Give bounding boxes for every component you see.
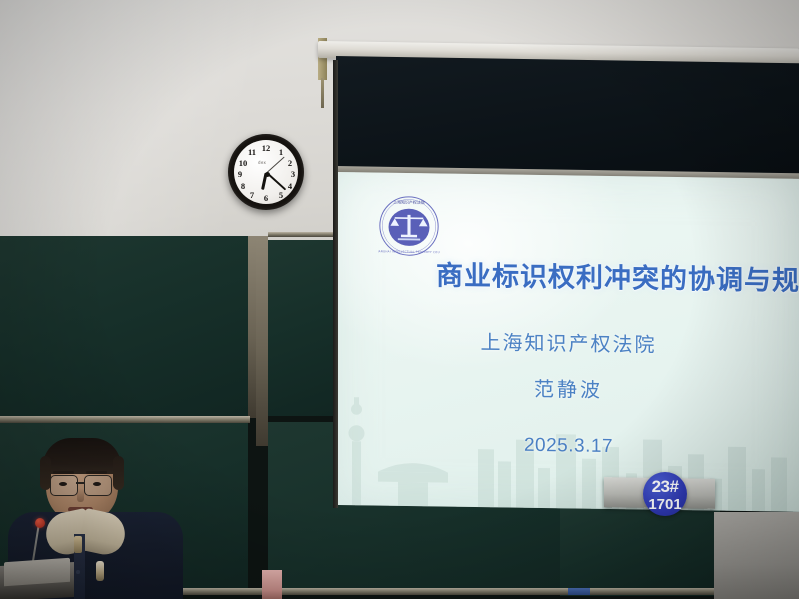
clock-number-1: 1: [275, 147, 287, 157]
chalk-rail-left: [0, 416, 250, 423]
board-divider-left: [248, 236, 256, 418]
screen-black-border: [336, 56, 799, 185]
shanghai-ip-court-emblem: 上海知识产权法院 SHANGHAI INTELLECTUAL PROPERTY …: [378, 195, 440, 258]
clock-number-12: 12: [260, 143, 272, 153]
lecture-hall-photo: dex 12 1 2 3 4 5 6 7 8 9 10 11: [0, 0, 799, 599]
clock-number-9: 9: [234, 169, 246, 179]
clock-number-10: 10: [237, 158, 249, 168]
presenter-brow-left: [53, 471, 74, 474]
presenter-brow-right: [86, 471, 107, 474]
presenter-hair-right: [113, 456, 124, 490]
clock-number-5: 5: [275, 190, 287, 200]
room-number-primary: 23#: [643, 477, 687, 497]
clock-face: dex 12 1 2 3 4 5 6 7 8 9 10 11: [234, 140, 298, 204]
projected-slide: 上海知识产权法院 SHANGHAI INTELLECTUAL PROPERTY …: [338, 172, 799, 512]
clock-number-3: 3: [287, 169, 299, 179]
clock-brand-label: dex: [258, 160, 266, 165]
microphone-head: [35, 518, 45, 528]
wall-clock: dex 12 1 2 3 4 5 6 7 8 9 10 11: [228, 134, 304, 210]
clock-number-2: 2: [284, 158, 296, 168]
clock-number-11: 11: [246, 147, 258, 157]
pink-eraser-box: [262, 570, 282, 599]
clock-second-hand: [266, 157, 285, 174]
presenter-hair: [43, 438, 121, 474]
eyeglasses-bridge: [76, 482, 85, 484]
side-wall-panel: [714, 512, 799, 599]
presenter-laptop: [4, 558, 70, 587]
chalkboard-panel-upper-left: [0, 236, 248, 416]
presenter-eye-right: [93, 482, 101, 486]
blue-chalk-box: [568, 588, 590, 595]
jacket-snap-right: [76, 570, 80, 574]
board-divider-center: [256, 236, 268, 446]
presenter-nose: [77, 488, 84, 502]
screen-mount-rod: [321, 78, 324, 108]
chalkboard-panel-far-right: [560, 506, 720, 596]
wall-highlight: [0, 0, 340, 258]
clock-number-8: 8: [237, 181, 249, 191]
jacket-toggle-button: [96, 561, 104, 581]
chalkboard-panel-mid: [268, 240, 336, 416]
room-number-badge: 23# 1701: [643, 472, 687, 516]
presenter-eye-left: [59, 482, 67, 486]
slide-title: 商业标识权利冲突的协调与规: [436, 253, 799, 297]
clock-number-7: 7: [246, 190, 258, 200]
clock-center-pin: [265, 172, 270, 177]
room-number-secondary: 1701: [643, 496, 687, 513]
slide-organization: 上海知识产权法院: [338, 324, 799, 360]
svg-text:SHANGHAI INTELLECTUAL PROPERTY: SHANGHAI INTELLECTUAL PROPERTY COURT: [378, 249, 440, 254]
jacket-zipper-pull: [74, 536, 82, 553]
clock-number-6: 6: [260, 193, 272, 203]
svg-text:上海知识产权法院: 上海知识产权法院: [393, 199, 425, 204]
